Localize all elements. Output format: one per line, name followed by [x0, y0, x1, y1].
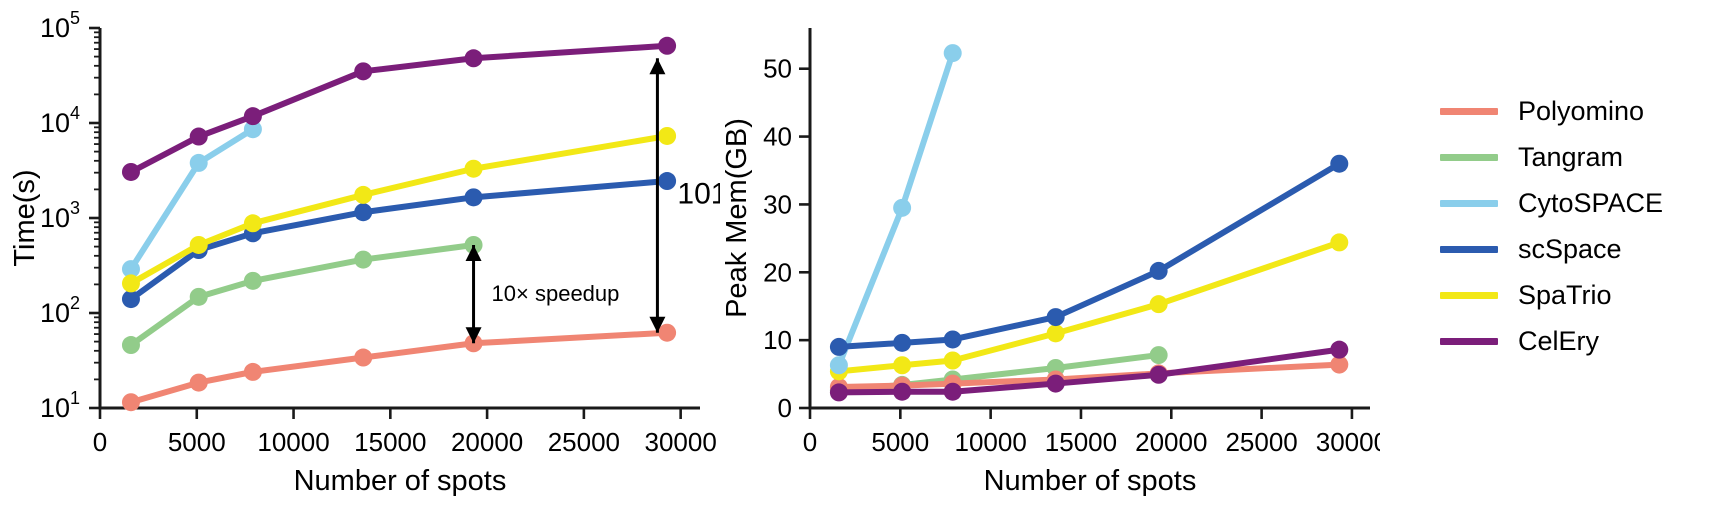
- time-data-point-tangram: [244, 272, 262, 290]
- time-xtick-label: 5000: [168, 427, 226, 457]
- time-xtick-label: 10000: [257, 427, 329, 457]
- memory-chart-panel: 0102030405005000100001500020000250003000…: [720, 0, 1380, 521]
- memory-xtick-label: 5000: [871, 427, 929, 457]
- time-xtick-label: 15000: [354, 427, 426, 457]
- time-chart-svg: 1010× speedup10× speedup 101102103104105…: [0, 0, 720, 521]
- time-xaxis-title: Number of spots: [294, 465, 507, 497]
- chart-legend: Polyomino Tangram CytoSPACE scSpace SpaT…: [1440, 88, 1720, 364]
- legend-label-tangram: Tangram: [1518, 142, 1623, 173]
- speedup-1010-annotation-label: 1010× speedup: [677, 178, 720, 211]
- memory-data-point-scspace: [893, 334, 911, 352]
- legend-label-cytospace: CytoSPACE: [1518, 188, 1663, 219]
- time-data-point-scspace: [122, 290, 140, 308]
- memory-data-point-celery: [1047, 375, 1065, 393]
- time-xtick-label: 25000: [548, 427, 620, 457]
- legend-swatch-spatrio: [1440, 292, 1498, 299]
- time-data-point-celery: [190, 128, 208, 146]
- memory-chart-axis-labels: 0102030405005000100001500020000250003000…: [721, 54, 1380, 497]
- memory-ytick-label: 40: [763, 122, 792, 152]
- time-yaxis-title: Time(s): [9, 169, 41, 266]
- legend-item-celery[interactable]: CelEry: [1440, 318, 1720, 364]
- legend-item-tangram[interactable]: Tangram: [1440, 134, 1720, 180]
- time-data-point-celery: [658, 37, 676, 55]
- time-data-point-celery: [354, 62, 372, 80]
- time-data-point-polyomino: [190, 374, 208, 392]
- figure-root: 1010× speedup10× speedup 101102103104105…: [0, 0, 1721, 521]
- time-ytick-label: 102: [40, 293, 80, 328]
- legend-swatch-scspace: [1440, 246, 1498, 253]
- memory-xaxis-title: Number of spots: [984, 465, 1197, 497]
- memory-ytick-label: 20: [763, 257, 792, 287]
- time-xtick-label: 20000: [451, 427, 523, 457]
- legend-swatch-cytospace: [1440, 200, 1498, 207]
- memory-data-point-celery: [893, 383, 911, 401]
- time-data-point-spatrio: [354, 186, 372, 204]
- legend-label-spatrio: SpaTrio: [1518, 280, 1612, 311]
- memory-data-point-spatrio: [1047, 324, 1065, 342]
- time-data-point-scspace: [465, 188, 483, 206]
- memory-chart-axes: [799, 28, 1370, 419]
- memory-data-point-spatrio: [893, 356, 911, 374]
- memory-data-point-scspace: [944, 330, 962, 348]
- memory-xtick-label: 25000: [1225, 427, 1297, 457]
- legend-item-polyomino[interactable]: Polyomino: [1440, 88, 1720, 134]
- memory-xtick-label: 30000: [1316, 427, 1380, 457]
- legend-swatch-polyomino: [1440, 108, 1498, 115]
- memory-data-point-spatrio: [944, 352, 962, 370]
- time-data-point-spatrio: [190, 236, 208, 254]
- time-data-point-polyomino: [122, 393, 140, 411]
- memory-data-point-celery: [830, 383, 848, 401]
- time-data-point-scspace: [658, 172, 676, 190]
- memory-data-point-cytospace: [893, 199, 911, 217]
- memory-data-point-scspace: [1330, 155, 1348, 173]
- memory-xtick-label: 20000: [1135, 427, 1207, 457]
- time-data-point-celery: [465, 49, 483, 67]
- time-data-point-polyomino: [658, 324, 676, 342]
- time-chart-panel: 1010× speedup10× speedup 101102103104105…: [0, 0, 720, 521]
- memory-ytick-label: 50: [763, 54, 792, 84]
- time-xtick-label: 30000: [644, 427, 716, 457]
- time-data-point-scspace: [354, 203, 372, 221]
- time-xtick-label: 0: [93, 427, 107, 457]
- time-data-point-cytospace: [190, 154, 208, 172]
- legend-label-scspace: scSpace: [1518, 234, 1622, 265]
- memory-data-point-celery: [1150, 366, 1168, 384]
- time-data-point-spatrio: [658, 127, 676, 145]
- memory-chart-series: [830, 44, 1348, 401]
- memory-series-line-scspace: [839, 164, 1339, 347]
- memory-data-point-cytospace: [830, 356, 848, 374]
- memory-series-line-spatrio: [839, 242, 1339, 371]
- time-data-point-spatrio: [122, 274, 140, 292]
- memory-xtick-label: 10000: [954, 427, 1026, 457]
- time-ytick-label: 104: [40, 103, 80, 138]
- memory-xtick-label: 0: [803, 427, 817, 457]
- memory-xtick-label: 15000: [1045, 427, 1117, 457]
- time-data-point-celery: [244, 107, 262, 125]
- time-ytick-label: 105: [40, 8, 80, 43]
- legend-label-celery: CelEry: [1518, 326, 1599, 357]
- legend-item-scspace[interactable]: scSpace: [1440, 226, 1720, 272]
- memory-data-point-scspace: [1047, 308, 1065, 326]
- time-chart-annotations: 1010× speedup10× speedup: [466, 58, 720, 343]
- time-data-point-spatrio: [244, 214, 262, 232]
- memory-data-point-tangram: [1150, 346, 1168, 364]
- memory-data-point-spatrio: [1150, 295, 1168, 313]
- time-ytick-label: 101: [40, 388, 80, 423]
- legend-label-polyomino: Polyomino: [1518, 96, 1644, 127]
- time-data-point-tangram: [190, 288, 208, 306]
- memory-chart-svg: 0102030405005000100001500020000250003000…: [720, 0, 1380, 521]
- time-data-point-polyomino: [354, 349, 372, 367]
- time-series-line-polyomino: [131, 333, 667, 403]
- time-data-point-tangram: [122, 336, 140, 354]
- speedup-10-annotation: 10× speedup: [466, 245, 620, 343]
- time-ytick-label: 103: [40, 198, 80, 233]
- memory-data-point-scspace: [1150, 262, 1168, 280]
- legend-item-spatrio[interactable]: SpaTrio: [1440, 272, 1720, 318]
- speedup-10-annotation-label: 10× speedup: [492, 281, 620, 306]
- memory-data-point-celery: [1330, 341, 1348, 359]
- time-chart-axes: [89, 28, 700, 419]
- memory-yaxis-title: Peak Mem(GB): [721, 118, 753, 318]
- time-data-point-polyomino: [244, 363, 262, 381]
- memory-data-point-spatrio: [1330, 233, 1348, 251]
- time-chart-series: [122, 37, 676, 411]
- time-data-point-tangram: [354, 251, 372, 269]
- legend-swatch-celery: [1440, 338, 1498, 345]
- memory-data-point-cytospace: [944, 44, 962, 62]
- speedup-1010-annotation: 1010× speedup: [649, 58, 720, 332]
- memory-ytick-label: 0: [778, 393, 792, 423]
- memory-ytick-label: 30: [763, 189, 792, 219]
- memory-data-point-scspace: [830, 338, 848, 356]
- legend-item-cytospace[interactable]: CytoSPACE: [1440, 180, 1720, 226]
- legend-swatch-tangram: [1440, 154, 1498, 161]
- time-data-point-celery: [122, 163, 140, 181]
- memory-data-point-celery: [944, 383, 962, 401]
- time-data-point-spatrio: [465, 160, 483, 178]
- memory-ytick-label: 10: [763, 325, 792, 355]
